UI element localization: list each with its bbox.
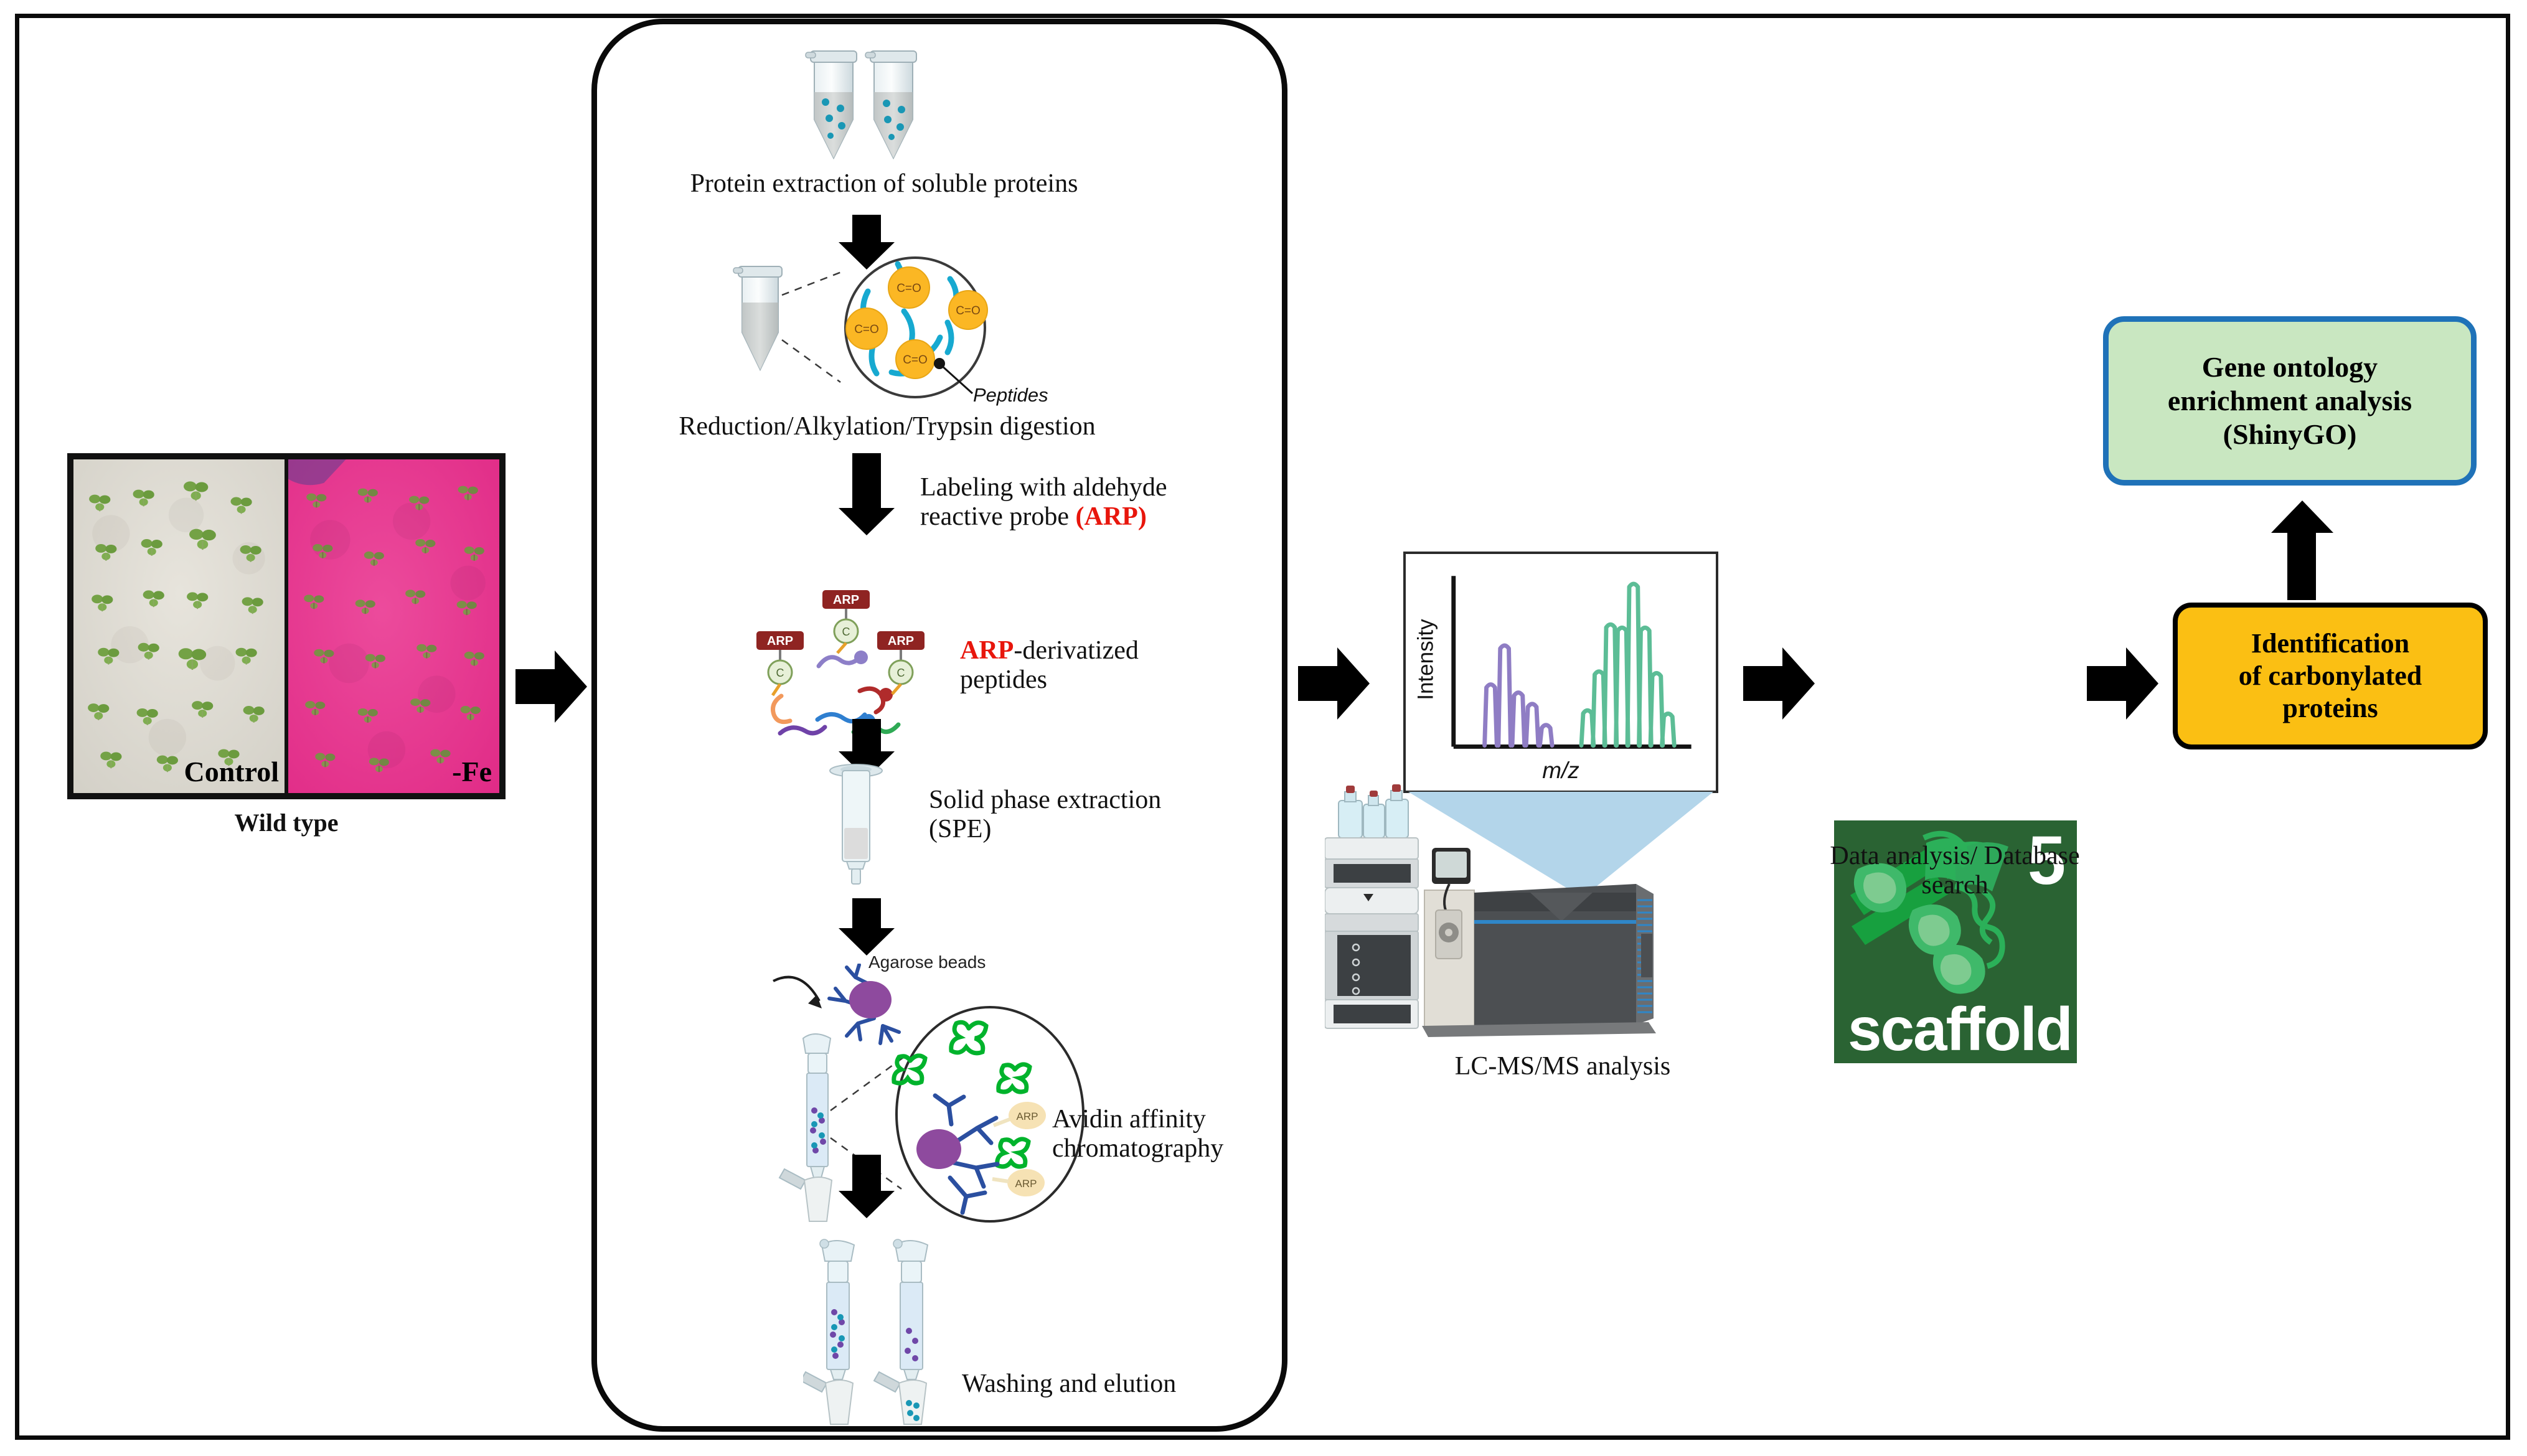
gene-ontology-line-3: (ShinyGO) xyxy=(2168,418,2412,451)
control-label: Control xyxy=(73,756,286,788)
identification-line-1: Identification xyxy=(2239,627,2422,660)
arp-peptides-line-1: ARP-derivatized xyxy=(960,636,1271,665)
step-spe-label: Solid phase extraction (SPE) xyxy=(929,786,1253,844)
spin-column-icon: ARP ARP xyxy=(766,964,1202,1225)
svg-text:C=O: C=O xyxy=(896,282,921,295)
mass-spectrum-chart xyxy=(1406,554,1716,791)
gene-ontology-box[interactable]: Gene ontology enrichment analysis (Shiny… xyxy=(2103,316,2477,486)
y-axis-label: Intensity xyxy=(1413,591,1438,728)
svg-text:C: C xyxy=(776,667,784,679)
svg-text:C: C xyxy=(897,667,905,679)
plant-phenotype-panel: Control -Fe xyxy=(67,453,506,799)
step-digestion-label: Reduction/Alkylation/Trypsin digestion xyxy=(619,412,1155,441)
arp-derivatized-text: -derivatized xyxy=(1014,636,1139,665)
scaffold-caption-line-1: Data analysis/ Database xyxy=(1774,842,2135,871)
gene-ontology-line-2: enrichment analysis xyxy=(2168,384,2412,418)
agarose-bead-graphic xyxy=(829,965,899,1043)
identification-line-2: of carbonylated xyxy=(2239,660,2422,692)
minus-fe-label: -Fe xyxy=(286,756,499,788)
avidin-line-1: Avidin affinity xyxy=(1052,1105,1351,1134)
mass-spectrometer-graphic xyxy=(1422,848,1656,1037)
wild-type-caption: Wild type xyxy=(67,809,506,837)
svg-text:ARP: ARP xyxy=(833,593,859,607)
arp-highlight: (ARP) xyxy=(1076,502,1147,531)
hplc-stack-graphic xyxy=(1325,784,1418,1028)
avidin-inset-graphic: ARP ARP xyxy=(894,1022,1046,1213)
step-arp-peptides-label: ARP-derivatized peptides xyxy=(960,636,1271,695)
scaffold-caption-line-2: search xyxy=(1774,871,2135,900)
gene-ontology-line-1: Gene ontology xyxy=(2168,350,2412,384)
arp-bold-highlight: ARP xyxy=(960,636,1014,665)
control-seedlings-graphic xyxy=(73,459,286,793)
step-extraction-label: Protein extraction of soluble proteins xyxy=(635,169,1133,199)
identification-box[interactable]: Identification of carbonylated proteins xyxy=(2173,603,2488,749)
spectrum-series-peptide-cluster-1 xyxy=(1485,646,1552,746)
spe-line-2: (SPE) xyxy=(929,815,1253,844)
step-wash-label: Washing and elution xyxy=(962,1369,1261,1399)
arp-derivatized-peptides-icon: ARP C ARP C ARP C xyxy=(744,573,949,741)
identification-line-3: proteins xyxy=(2239,692,2422,725)
arp-peptides-line-2: peptides xyxy=(960,665,1271,695)
svg-text:ARP: ARP xyxy=(1017,1111,1038,1122)
spe-line-1: Solid phase extraction xyxy=(929,786,1253,815)
labeling-line-1: Labeling with aldehyde xyxy=(920,473,1269,502)
labeling-line-2-text: reactive probe xyxy=(920,502,1076,531)
spectrum-series-peptide-cluster-2 xyxy=(1581,584,1674,746)
labeling-line-2: reactive probe (ARP) xyxy=(920,502,1269,532)
lc-ms-instrument-icon xyxy=(1325,778,1761,1040)
control-plate-image xyxy=(73,459,286,793)
plate-divider xyxy=(285,459,288,793)
iron-deficient-plate-image xyxy=(286,459,499,793)
svg-text:ARP: ARP xyxy=(1015,1178,1037,1190)
step-avidin-label: Avidin affinity chromatography xyxy=(1052,1105,1351,1163)
lcms-caption: LC-MS/MS analysis xyxy=(1345,1052,1781,1081)
scaffold-caption: Data analysis/ Database search xyxy=(1774,842,2135,900)
svg-text:C=O: C=O xyxy=(903,354,928,367)
svg-text:C=O: C=O xyxy=(956,304,981,317)
svg-text:C=O: C=O xyxy=(854,323,879,336)
mass-spectrum-panel: Intensity m/z xyxy=(1403,552,1718,793)
two-microtubes-icon xyxy=(803,39,965,163)
spin-column-tube-graphic xyxy=(779,1034,832,1221)
svg-text:C: C xyxy=(842,626,850,638)
peptides-inset-label: Peptides xyxy=(973,385,1048,406)
svg-text:ARP: ARP xyxy=(767,634,793,648)
minus-fe-seedlings-graphic xyxy=(286,459,499,793)
svg-text:ARP: ARP xyxy=(888,634,914,648)
spe-column-icon xyxy=(822,761,890,891)
step-labeling-label: Labeling with aldehyde reactive probe (A… xyxy=(920,473,1269,532)
arrow-right-icon xyxy=(515,669,556,704)
scaffold-wordmark: scaffold xyxy=(1848,998,2072,1059)
avidin-line-2: chromatography xyxy=(1052,1134,1351,1163)
